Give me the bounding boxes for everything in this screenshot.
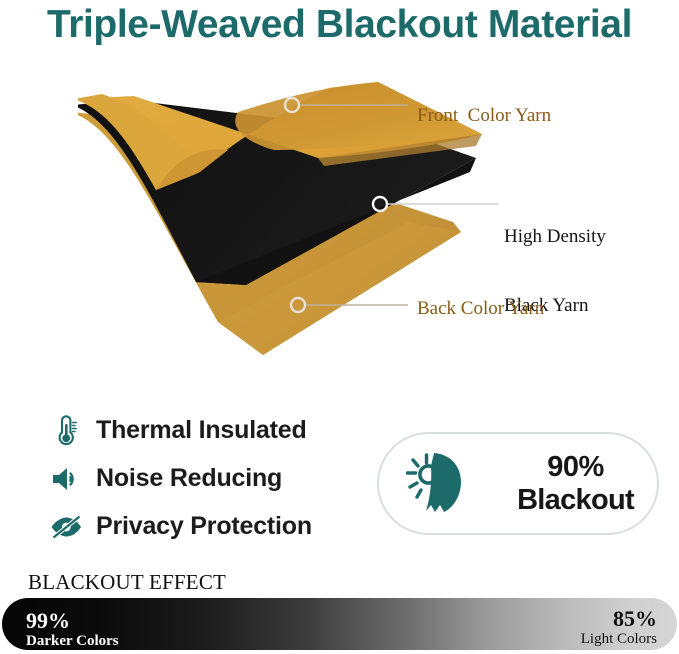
sun-behind-curtain-icon (404, 450, 474, 518)
blackout-badge-text: 90% Blackout (494, 451, 657, 517)
light-colors-percent: 85% (581, 607, 657, 630)
feature-label: Thermal Insulated (96, 416, 307, 445)
blackout-effect-heading: BLACKOUT EFFECT (28, 570, 226, 595)
feature-label: Noise Reducing (96, 464, 282, 493)
gradient-left-text: 99% Darker Colors (26, 609, 119, 650)
feature-thermal-insulated: Thermal Insulated (46, 408, 356, 453)
page-title: Triple-Weaved Blackout Material (0, 2, 679, 48)
gradient-right-text: 85% Light Colors (581, 607, 657, 648)
feature-noise-reducing: Noise Reducing (46, 456, 356, 501)
label-front-color-yarn: Front Color Yarn (417, 104, 551, 127)
blackout-word: Blackout (517, 484, 634, 516)
speaker-icon (46, 464, 86, 494)
blackout-badge: 90% Blackout (377, 432, 659, 535)
label-line-1: High Density (504, 225, 606, 248)
feature-label: Privacy Protection (96, 512, 312, 541)
eye-slash-icon (46, 513, 86, 541)
thermometer-icon (46, 415, 86, 447)
label-back-color-yarn: Back Color Yarn (417, 297, 544, 320)
darker-colors-percent: 99% (26, 609, 119, 632)
light-colors-label: Light Colors (581, 630, 657, 648)
blackout-percent: 90% (547, 451, 604, 483)
darker-colors-label: Darker Colors (26, 632, 119, 650)
feature-privacy-protection: Privacy Protection (46, 504, 356, 549)
feature-list: Thermal Insulated Noise Reducing Privacy… (46, 408, 356, 552)
